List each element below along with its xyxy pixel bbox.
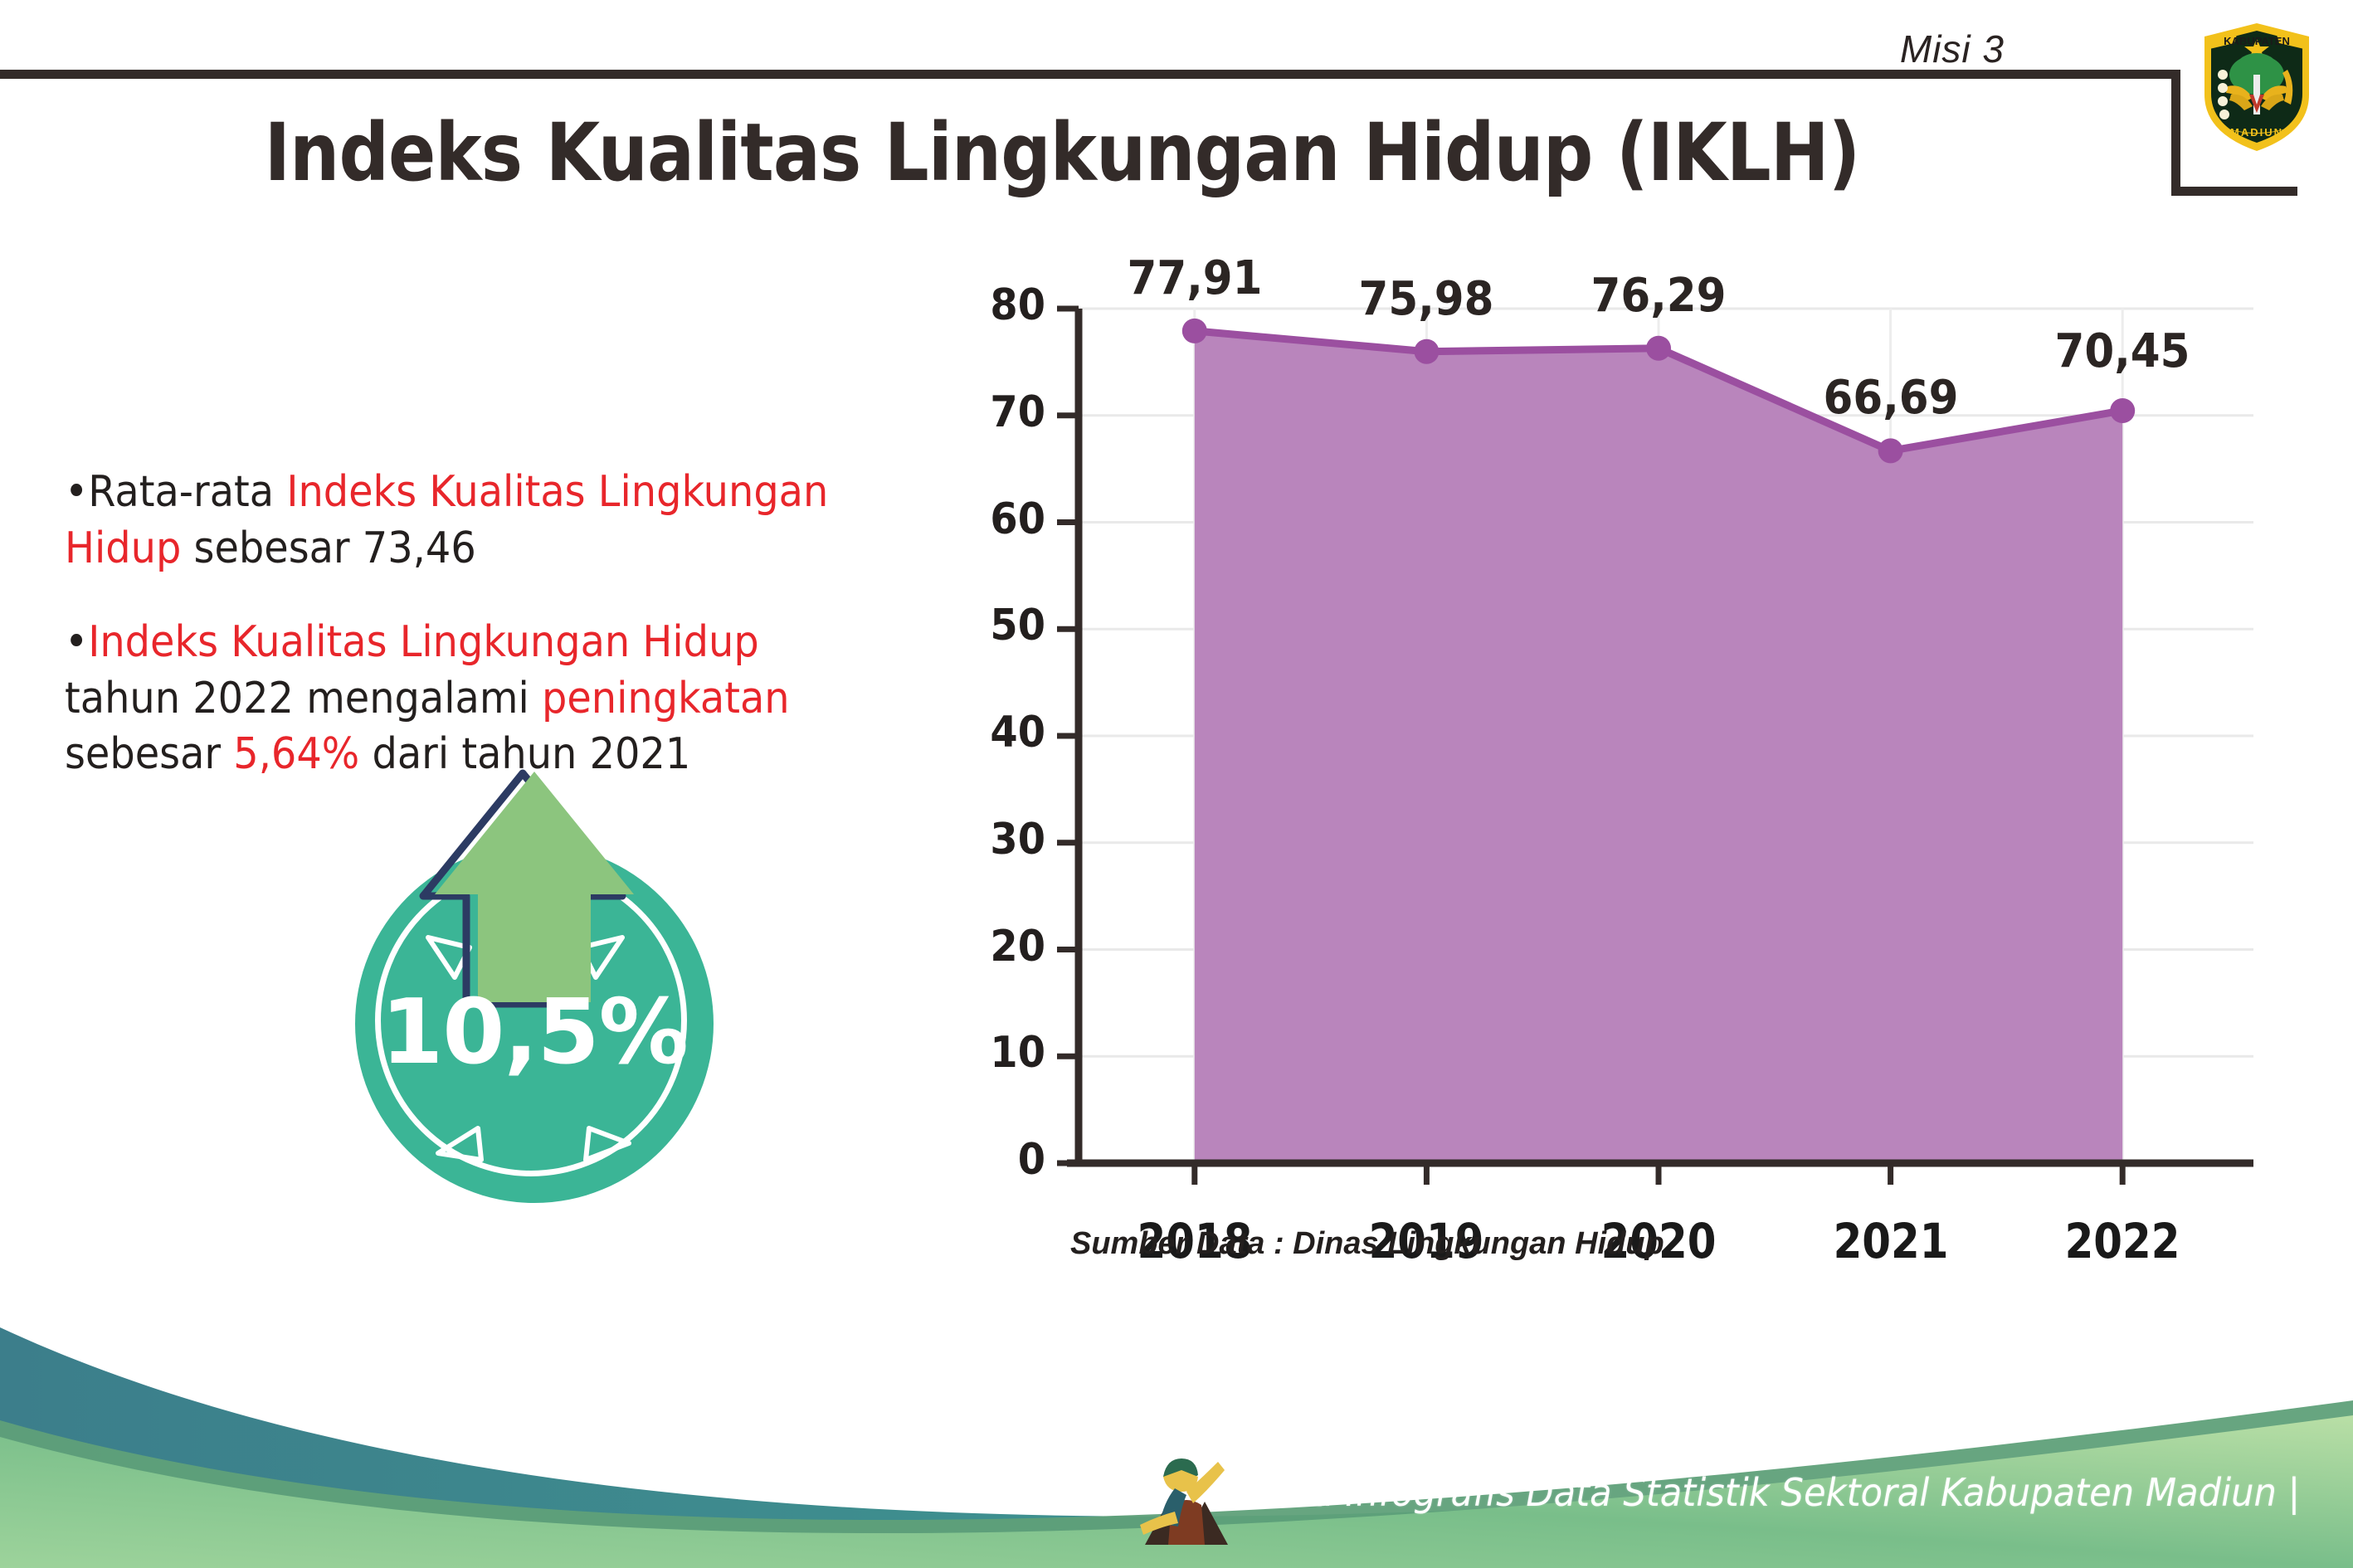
bullet-plain-text: sebesar 73,46 — [181, 523, 475, 573]
bullet-plain-text: sebesar — [65, 729, 233, 779]
bullet-text-change: Indeks Kualitas Lingkungan Hidup tahun 2… — [65, 617, 790, 779]
data-point-label: 76,29 — [1559, 269, 1757, 323]
page-title: Indeks Kualitas Lingkungan Hidup (IKLH) — [128, 106, 1997, 199]
y-tick-label: 50 — [962, 601, 1045, 650]
data-point-marker — [1414, 339, 1439, 364]
data-point-marker — [1182, 319, 1207, 343]
x-tick-label: 2021 — [1801, 1213, 1980, 1269]
bullet-item-average: •Rata-rata Indeks Kualitas Lingkungan Hi… — [65, 465, 881, 577]
chart-area-fill — [1195, 331, 2122, 1163]
header-divider-line — [0, 70, 2180, 79]
data-point-label: 70,45 — [2024, 324, 2222, 378]
y-tick-label: 60 — [962, 494, 1045, 544]
kabupaten-madiun-crest-icon: KABUPATEN MADIUN — [2195, 15, 2319, 156]
header-divider-vertical — [2171, 70, 2180, 196]
bullet-plain-text: Rata-rata — [88, 467, 286, 517]
header-divider-bottom — [2171, 187, 2297, 196]
bullet-dot-icon: • — [65, 467, 88, 517]
y-tick-label: 80 — [962, 280, 1045, 330]
bullet-item-change: •Indeks Kualitas Lingkungan Hidup tahun … — [65, 615, 881, 783]
badge-value: 10,5% — [355, 981, 714, 1084]
x-tick-label: 2022 — [2034, 1213, 2212, 1269]
data-point-label: 66,69 — [1791, 371, 1990, 425]
data-point-label: 75,98 — [1328, 272, 1526, 326]
bullet-text-average: Rata-rata Indeks Kualitas Lingkungan Hid… — [65, 467, 828, 573]
y-tick-label: 40 — [962, 708, 1045, 757]
data-point-marker — [1878, 438, 1903, 463]
y-tick-label: 20 — [962, 922, 1045, 971]
iklh-area-chart: 01020304050607080 20182019202020212022 7… — [954, 295, 2282, 1299]
increase-badge: 10,5% — [330, 763, 762, 1203]
bullet-highlight-text: Indeks Kualitas Lingkungan Hidup — [88, 617, 759, 667]
bullet-highlight-text: peningkatan — [542, 674, 790, 723]
y-tick-label: 0 — [962, 1135, 1045, 1185]
data-point-marker — [1646, 336, 1671, 361]
source-note: Sumber Data : Dinas Lingkungan Hidup — [1070, 1226, 1664, 1262]
y-tick-label: 10 — [962, 1028, 1045, 1078]
footer-caption: Media Infografis Data Statistik Sektoral… — [1226, 1470, 2300, 1515]
mission-label: Misi 3 — [1900, 27, 2005, 71]
crest-bottom-text: MADIUN — [2230, 126, 2283, 139]
data-point-label: 77,91 — [1095, 251, 1293, 305]
bullet-plain-text: tahun 2022 mengalami — [65, 674, 542, 723]
media-infografis-logo-icon — [1138, 1440, 1231, 1556]
y-tick-label: 30 — [962, 815, 1045, 864]
bullet-dot-icon: • — [65, 617, 88, 667]
data-point-marker — [2110, 398, 2135, 423]
chart-plot — [954, 295, 2282, 1299]
crest-top-text: KABUPATEN — [2224, 35, 2290, 47]
y-tick-label: 70 — [962, 387, 1045, 437]
